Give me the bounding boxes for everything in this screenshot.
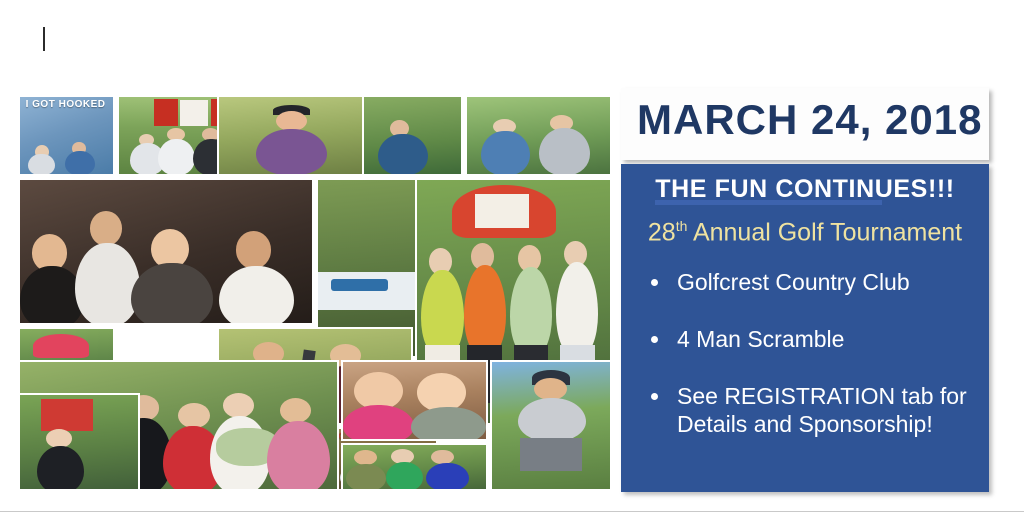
promo-headline: THE FUN CONTINUES!!! <box>655 175 954 204</box>
subtitle-container: 28th Annual Golf Tournament <box>621 218 989 247</box>
bullet-dot-icon <box>651 393 658 400</box>
list-item: See REGISTRATION tab for Details and Spo… <box>645 382 975 440</box>
promo-panel: THE FUN CONTINUES!!! 28th Annual Golf To… <box>621 164 989 492</box>
bullet-dot-icon <box>651 279 658 286</box>
promo-headline-text: THE FUN CONTINUES!!! <box>655 175 954 203</box>
list-item: Golfcrest Country Club <box>645 268 975 297</box>
photo-two-women-smiling <box>341 360 488 441</box>
bullet-dot-icon <box>651 336 658 343</box>
photo-i-got-hooked-sign: I GOT HOOKED <box>18 95 115 176</box>
subtitle-rest: Annual Golf Tournament <box>687 218 962 246</box>
photo-two-golfers-cart-path <box>465 95 612 176</box>
subtitle-ordinal-number: 28 <box>648 218 676 246</box>
date-card: MARCH 24, 2018 <box>621 88 989 160</box>
headline-container: THE FUN CONTINUES!!! <box>621 175 989 204</box>
event-date: MARCH 24, 2018 <box>637 96 982 144</box>
bullet-text: See REGISTRATION tab for Details and Spo… <box>677 383 967 438</box>
photo-group-sunglasses-field <box>341 443 488 491</box>
bottom-divider <box>0 511 1024 512</box>
list-item: 4 Man Scramble <box>645 325 975 354</box>
text-caret <box>43 27 45 51</box>
promo-subtitle: 28th Annual Golf Tournament <box>648 218 962 247</box>
photo-crowd-indoor-dinner <box>18 178 314 325</box>
headline-highlight-bar <box>655 200 882 205</box>
subtitle-ordinal-suffix: th <box>676 218 688 234</box>
photo-collage: I GOT HOOKED <box>18 95 612 491</box>
collage-caption-hooked: I GOT HOOKED <box>26 100 108 111</box>
photo-golfer-striped-shirt-swing <box>490 360 612 491</box>
bullet-text: Golfcrest Country Club <box>677 269 910 295</box>
promo-bullet-list: Golfcrest Country Club 4 Man Scramble Se… <box>645 268 975 467</box>
photo-golfer-purple-shirt-fist <box>217 95 364 176</box>
photo-woman-red-flag-cooler <box>18 393 140 491</box>
bullet-text: 4 Man Scramble <box>677 326 844 352</box>
